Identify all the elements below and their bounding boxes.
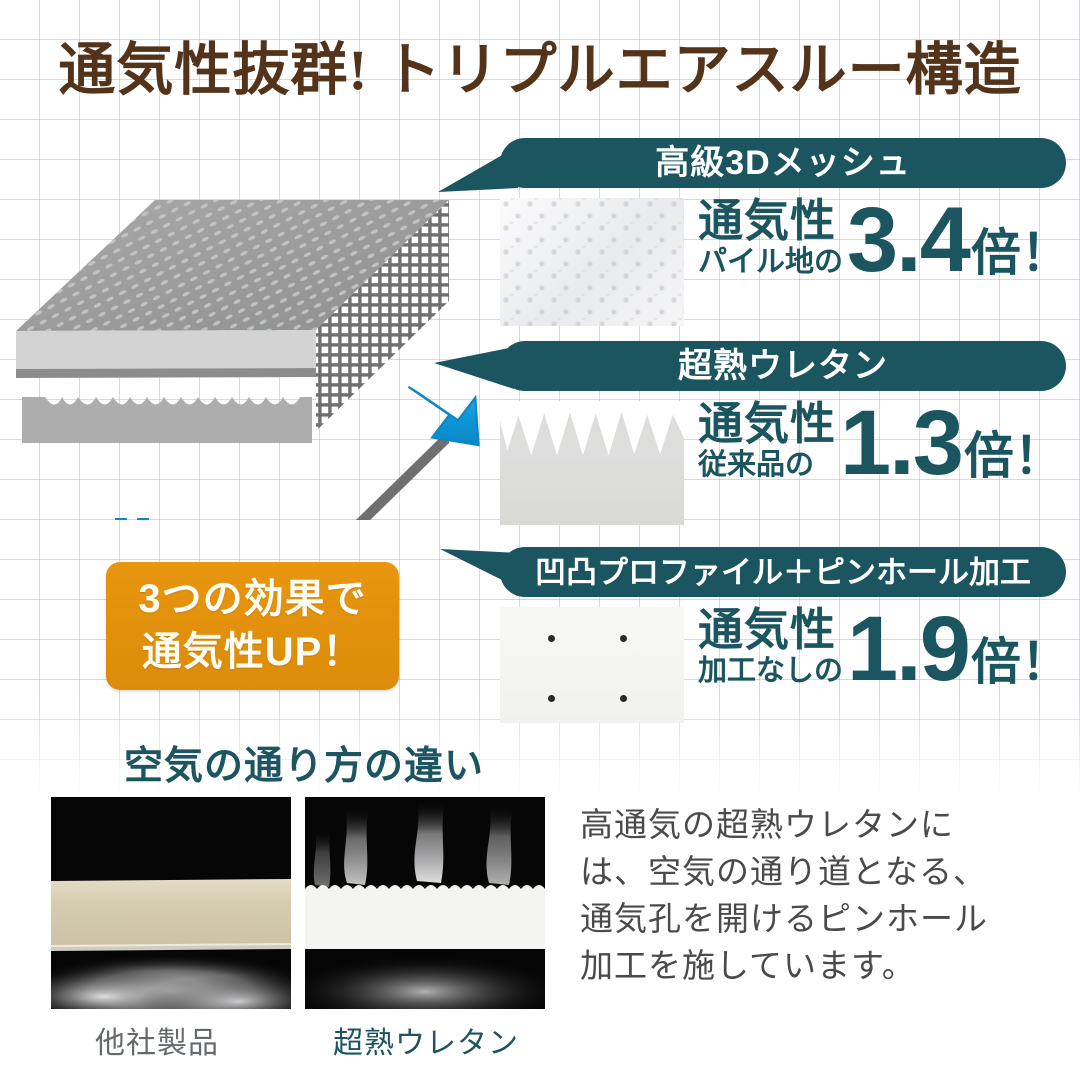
callout-value-block: 通気性 加工なしの 1.9 倍！: [684, 607, 1071, 689]
callout-urethane: 超熟ウレタン 通気性 従来品の 1.3 倍！: [500, 341, 1066, 525]
description-line: は、空気の通り道となる、: [580, 849, 1058, 896]
pinhole-dot: [548, 695, 555, 702]
callout-body: 通気性 パイル地の 3.4 倍！: [500, 198, 1066, 326]
comparison-photos: [51, 797, 545, 1009]
photo-competitor-smoke-test: [51, 797, 291, 1009]
badge-line-2: 通気性UP！: [142, 626, 364, 679]
mesh-texture-swatch: [500, 198, 684, 326]
banner-tail-icon: [438, 144, 518, 196]
pinhole-foam-swatch: [500, 607, 684, 723]
callout-body: 通気性 従来品の 1.3 倍！: [500, 401, 1066, 525]
callout-3d-mesh: 高級3Dメッシュ 通気性 パイル地の 3.4 倍！: [500, 138, 1066, 326]
callout-pinhole: 凹凸プロファイル＋ピンホール加工 通気性 加工なしの 1.9 倍！: [500, 547, 1066, 723]
comparison-description: 高通気の超熟ウレタンに は、空気の通り道となる、 通気孔を開けるピンホール 加工…: [580, 802, 1058, 989]
metric-unit: 倍！: [964, 431, 1064, 481]
photo-caption-competitor: 他社製品: [95, 1018, 219, 1062]
metric-value: 1.9: [847, 610, 969, 689]
metric-label: 通気性: [698, 198, 836, 244]
compare-label: パイル地の: [698, 244, 843, 280]
callout-value-block: 通気性 従来品の 1.3 倍！: [684, 401, 1066, 483]
compare-label: 加工なしの: [698, 653, 843, 689]
sawtooth-foam-swatch: [500, 401, 684, 525]
page-title: 通気性抜群! トリプルエアスルー構造: [0, 24, 1080, 106]
airflow-arrow-bottom-split: [22, 445, 242, 520]
compare-label: 従来品の: [698, 447, 814, 483]
callout-banner-label: 超熟ウレタン: [678, 349, 888, 383]
photo-caption-super-urethane: 超熟ウレタン: [333, 1018, 519, 1062]
metric-label: 通気性: [698, 401, 836, 447]
photo-super-urethane-smoke-test: [305, 797, 545, 1009]
callout-banner: 超熟ウレタン: [500, 341, 1066, 391]
metric-value: 3.4: [847, 201, 969, 280]
description-line: 高通気の超熟ウレタンに: [580, 802, 1058, 849]
metric-label: 通気性: [698, 607, 836, 653]
pinhole-dot: [548, 635, 555, 642]
description-line: 加工を施しています。: [580, 943, 1058, 990]
callout-banner: 高級3Dメッシュ: [500, 138, 1066, 188]
metric-unit: 倍！: [971, 228, 1071, 278]
banner-tail-icon: [434, 345, 514, 397]
callout-banner: 凹凸プロファイル＋ピンホール加工: [500, 547, 1066, 597]
mattress-cutaway-diagram: [0, 125, 480, 520]
metric-value: 1.3: [840, 404, 962, 483]
three-effects-badge: 3つの効果で 通気性UP！: [106, 562, 399, 690]
callout-banner-label: 高級3Dメッシュ: [655, 146, 910, 180]
callout-value-block: 通気性 パイル地の 3.4 倍！: [684, 198, 1071, 280]
metric-unit: 倍！: [971, 637, 1071, 687]
pinhole-dot: [620, 695, 627, 702]
infographic-page: 通気性抜群! トリプルエアスルー構造: [0, 0, 1080, 1080]
banner-tail-icon: [440, 549, 520, 601]
callout-banner-label: 凹凸プロファイル＋ピンホール加工: [535, 557, 1031, 588]
pinhole-dot: [620, 635, 627, 642]
badge-line-1: 3つの効果で: [138, 573, 366, 626]
callout-body: 通気性 加工なしの 1.9 倍！: [500, 607, 1066, 723]
comparison-heading: 空気の通り方の違い: [124, 735, 484, 791]
description-line: 通気孔を開けるピンホール: [580, 896, 1058, 943]
